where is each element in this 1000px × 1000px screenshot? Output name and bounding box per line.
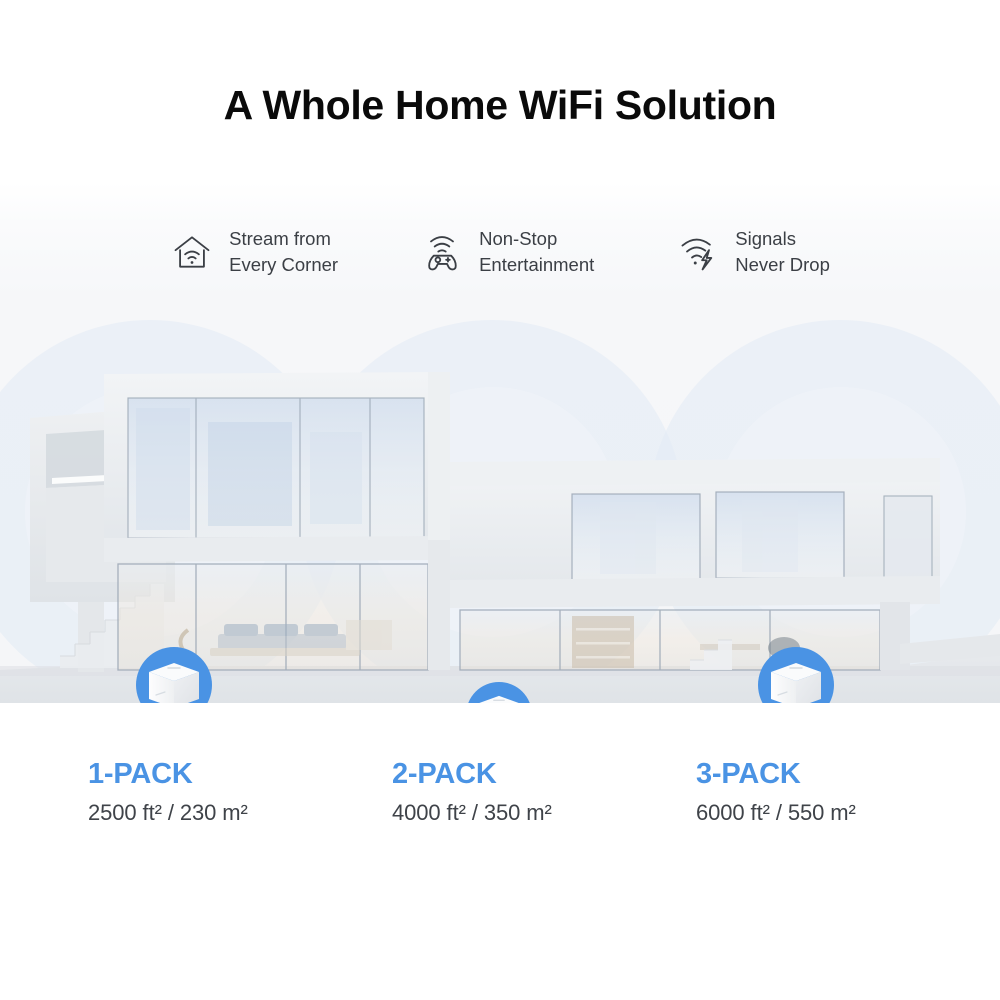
pack-options-row: 1-PACK 2500 ft² / 230 m² 2-PACK 4000 ft²… [0, 758, 1000, 826]
wifi-lightning-icon [676, 230, 720, 274]
product-feature-page: A Whole Home WiFi Solution [0, 0, 1000, 1000]
page-title: A Whole Home WiFi Solution [0, 82, 1000, 129]
feature-list: Stream from Every Corner Non-Stop Entert… [0, 226, 1000, 279]
feature-item-stream: Stream from Every Corner [170, 226, 338, 279]
feature-item-entertainment: Non-Stop Entertainment [420, 226, 594, 279]
mesh-router-cube-icon [758, 647, 834, 703]
pack-option-3[interactable]: 3-PACK 6000 ft² / 550 m² [696, 758, 1000, 826]
hero-illustration-panel: Stream from Every Corner Non-Stop Entert… [0, 182, 1000, 703]
feature-label: Non-Stop Entertainment [479, 226, 594, 279]
mesh-router-cube-icon [136, 647, 212, 703]
pack-coverage: 4000 ft² / 350 m² [392, 800, 696, 826]
pack-option-2[interactable]: 2-PACK 4000 ft² / 350 m² [392, 758, 696, 826]
pack-name: 1-PACK [88, 758, 392, 791]
pack-coverage: 6000 ft² / 550 m² [696, 800, 1000, 826]
gamepad-wifi-icon [420, 230, 464, 274]
pack-name: 3-PACK [696, 758, 1000, 791]
house-wifi-icon [170, 230, 214, 274]
pack-name: 2-PACK [392, 758, 696, 791]
feature-label: Signals Never Drop [735, 226, 830, 279]
feature-label: Stream from Every Corner [229, 226, 338, 279]
feature-item-signal: Signals Never Drop [676, 226, 830, 279]
pack-coverage: 2500 ft² / 230 m² [88, 800, 392, 826]
mesh-router-cube-icon [466, 682, 532, 703]
pack-option-1[interactable]: 1-PACK 2500 ft² / 230 m² [88, 758, 392, 826]
